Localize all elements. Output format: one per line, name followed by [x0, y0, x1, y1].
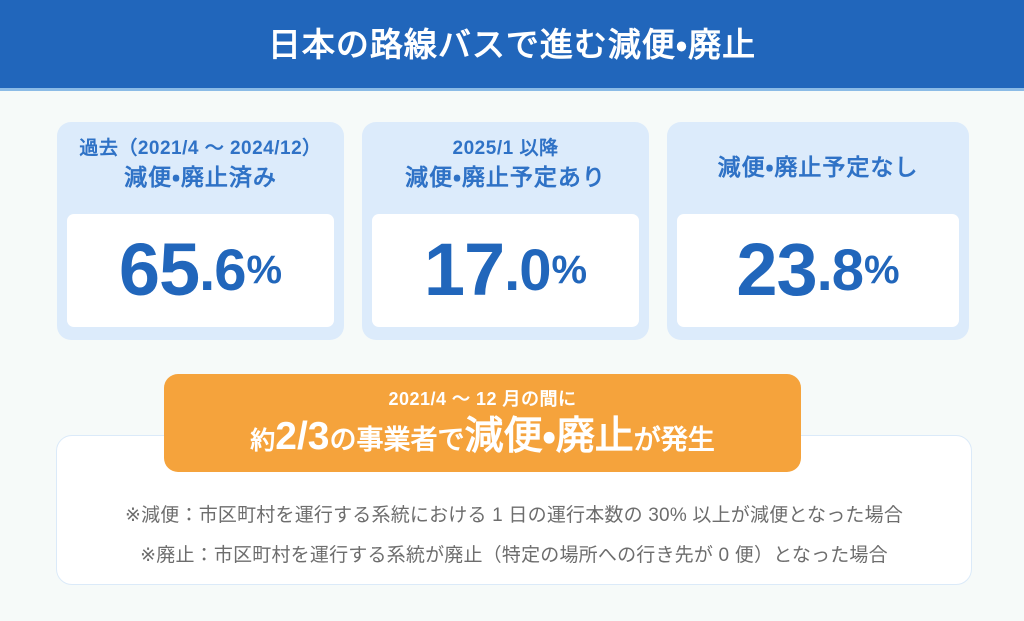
stat-value-integer: 65 [119, 240, 199, 301]
stat-card-value-box: 65 .6 % [67, 214, 334, 327]
stat-value-decimal: .8 [817, 247, 863, 295]
stat-card-value-box: 23 .8 % [677, 214, 959, 327]
stat-card-header: 過去（2021/4 〜 2024/12） 減便・廃止済み [57, 122, 344, 214]
highlight-callout: 2021/4 〜 12 月の間に 約 2/3 の事業者で 減便・廃止 が発生 [164, 374, 801, 472]
header-divider [0, 88, 1024, 91]
stat-card-title: 減便・廃止予定なし [718, 152, 919, 183]
stat-value-decimal: .6 [199, 247, 245, 295]
stat-card-value-box: 17 .0 % [372, 214, 639, 327]
callout-operators-label: の事業者で [329, 427, 464, 454]
callout-main-text: 約 2/3 の事業者で 減便・廃止 が発生 [250, 417, 715, 456]
callout-period-label: 2021/4 〜 12 月の間に [388, 390, 576, 410]
stat-value-integer: 17 [424, 240, 504, 301]
callout-emphasis: 減便・廃止 [464, 417, 633, 456]
stat-card-header: 減便・廃止予定なし [667, 122, 969, 214]
stat-cards-row: 過去（2021/4 〜 2024/12） 減便・廃止済み 65 .6 % 202… [57, 122, 969, 340]
stat-card-header: 2025/1 以降 減便・廃止予定あり [362, 122, 649, 214]
stat-value-percent-sign: % [247, 254, 283, 287]
stat-value-integer: 23 [736, 240, 816, 301]
stat-card-period-label: 過去（2021/4 〜 2024/12） [57, 136, 344, 162]
stat-card-planned-reduction-abolition: 2025/1 以降 減便・廃止予定あり 17 .0 % [362, 122, 649, 340]
footnote-reduction: ※減便：市区町村を運行する系統における 1 日の運行本数の 30% 以上が減便と… [85, 496, 943, 536]
stat-card-title: 減便・廃止済み [57, 162, 344, 193]
footnote-abolition: ※廃止：市区町村を運行する系統が廃止（特定の場所への行き先が 0 便）となった場… [85, 536, 943, 576]
stat-card-period-label: 2025/1 以降 [362, 136, 649, 162]
stat-value-percent-sign: % [864, 254, 900, 287]
callout-fraction: 2/3 [275, 417, 329, 456]
stat-card-title: 減便・廃止予定あり [362, 162, 649, 193]
stat-card-past-reduced-abolished: 過去（2021/4 〜 2024/12） 減便・廃止済み 65 .6 % [57, 122, 344, 340]
callout-approx-label: 約 [250, 429, 275, 454]
stat-card-no-planned-reduction: 減便・廃止予定なし 23 .8 % [667, 122, 969, 340]
header-banner: 日本の路線バスで進む減便・廃止 [0, 0, 1024, 88]
stat-value-percent-sign: % [552, 254, 588, 287]
callout-occurrence-label: が発生 [634, 427, 715, 454]
page-title: 日本の路線バスで進む減便・廃止 [268, 28, 756, 61]
stat-value-decimal: .0 [504, 247, 550, 295]
footnote-list: ※減便：市区町村を運行する系統における 1 日の運行本数の 30% 以上が減便と… [57, 496, 971, 576]
